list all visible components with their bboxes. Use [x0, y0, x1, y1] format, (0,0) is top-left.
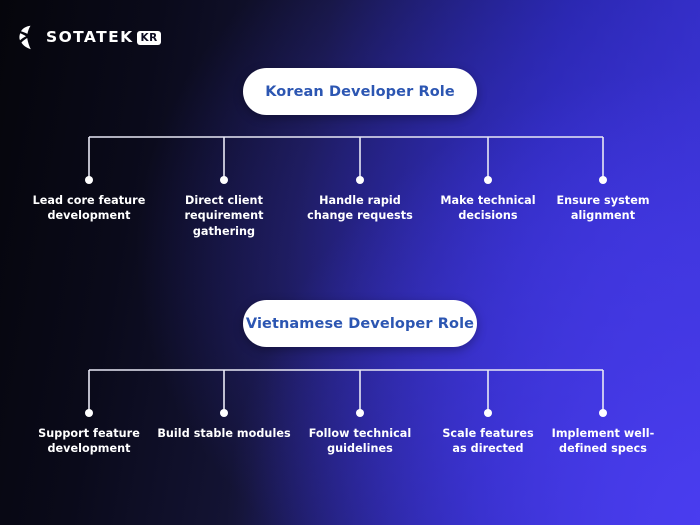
leaf-item: Lead core feature development: [19, 193, 159, 224]
leaf-line-1: Ensure system: [541, 193, 665, 208]
leaf-line-2: alignment: [541, 208, 665, 223]
leaf-line-2: as directed: [425, 441, 551, 456]
leaf-line-1: Support feature: [19, 426, 159, 441]
leaf-line-1: Make technical: [425, 193, 551, 208]
group-title-vietnamese[interactable]: Vietnamese Developer Role: [243, 300, 477, 347]
leaf-line-2: development: [19, 441, 159, 456]
leaf-item: Make technical decisions: [425, 193, 551, 224]
group-title-vietnamese-label: Vietnamese Developer Role: [246, 316, 474, 332]
leaf-line-2: defined specs: [541, 441, 665, 456]
leaf-line-1: Handle rapid: [294, 193, 426, 208]
brand-logo: SOTATEK KR: [16, 25, 161, 51]
leaf-line-2: change requests: [294, 208, 426, 223]
leaf-line-1: Build stable modules: [152, 426, 296, 441]
brand-region-badge: KR: [137, 31, 160, 45]
leaf-line-1: Direct client: [152, 193, 296, 208]
leaf-line-1: Lead core feature: [19, 193, 159, 208]
leaf-item: Scale features as directed: [425, 426, 551, 457]
leaf-line-2: guidelines: [294, 441, 426, 456]
leaf-item: Ensure system alignment: [541, 193, 665, 224]
leaf-line-1: Scale features: [425, 426, 551, 441]
brand-name: SOTATEK: [46, 30, 133, 46]
sotatek-mark-icon: [16, 25, 40, 51]
leaf-item: Implement well- defined specs: [541, 426, 665, 457]
leaf-item: Follow technical guidelines: [294, 426, 426, 457]
leaf-line-2: development: [19, 208, 159, 223]
leaf-item: Handle rapid change requests: [294, 193, 426, 224]
leaf-line-2: requirement gathering: [152, 208, 296, 239]
leaf-line-1: Follow technical: [294, 426, 426, 441]
leaf-line-1: Implement well-: [541, 426, 665, 441]
group-title-korean[interactable]: Korean Developer Role: [243, 68, 477, 115]
leaf-item: Support feature development: [19, 426, 159, 457]
group-title-korean-label: Korean Developer Role: [265, 84, 455, 100]
leaf-line-2: decisions: [425, 208, 551, 223]
leaf-item: Direct client requirement gathering: [152, 193, 296, 239]
slide-canvas: SOTATEK KR: [0, 0, 700, 525]
leaf-item: Build stable modules: [152, 426, 296, 441]
